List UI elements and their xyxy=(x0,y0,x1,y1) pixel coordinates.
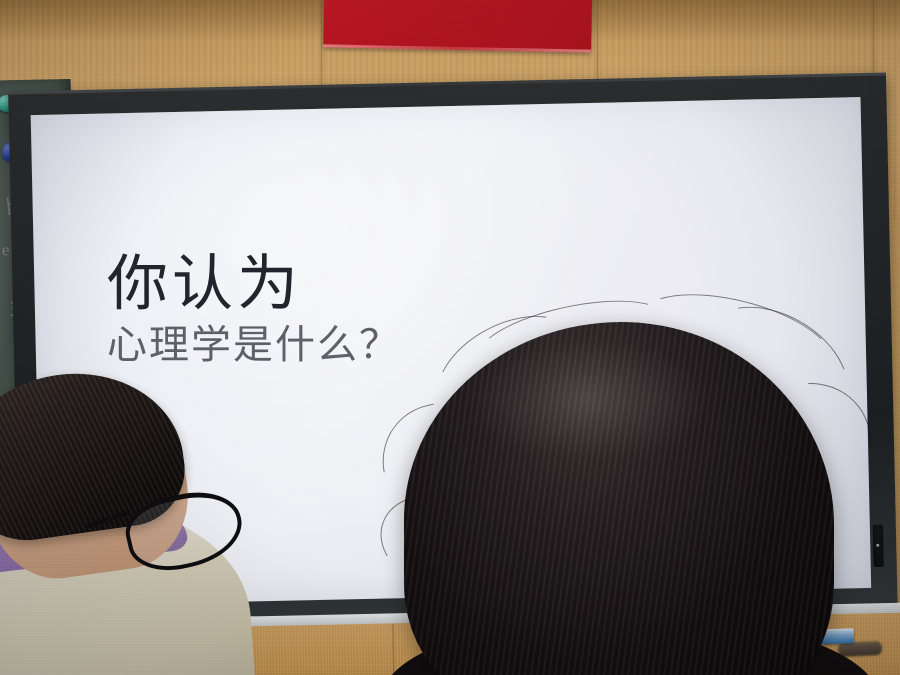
display-sensor-right xyxy=(873,525,884,567)
right-attendee-hair xyxy=(404,322,834,675)
red-banner xyxy=(323,0,593,53)
slide-content: 你认为 心理学是什么？ xyxy=(107,252,401,366)
slide-title: 你认为 xyxy=(107,252,401,314)
photo-canvas: 比 e 五 0 一 你认为 心理学是什么？ xyxy=(0,0,900,675)
person-right-attendee xyxy=(404,322,874,675)
chalk-mark: e xyxy=(1,240,10,260)
slide-subtitle: 心理学是什么？ xyxy=(107,324,401,366)
person-left-attendee xyxy=(0,400,290,675)
hair-sheen xyxy=(464,340,714,460)
